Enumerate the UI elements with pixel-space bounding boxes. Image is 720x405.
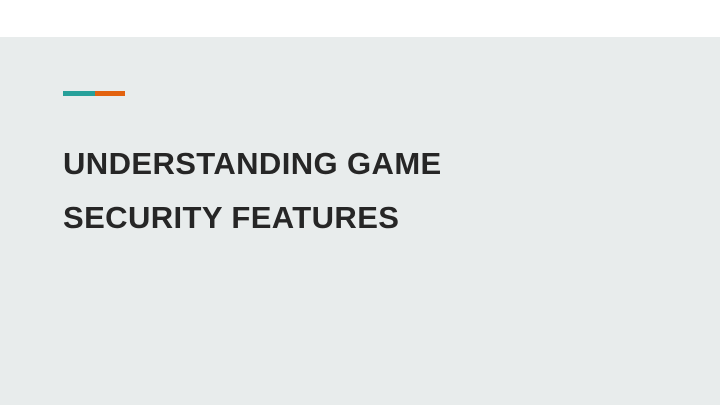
slide-body: UNDERSTANDING GAME SECURITY FEATURES [0,37,720,405]
slide-title: UNDERSTANDING GAME SECURITY FEATURES [63,137,663,245]
accent-rule-orange-segment [95,91,125,96]
slide: UNDERSTANDING GAME SECURITY FEATURES [0,0,720,405]
accent-rule [63,91,125,96]
header-strip [0,0,720,37]
slide-title-line-1: UNDERSTANDING GAME [63,137,663,191]
slide-title-line-2: SECURITY FEATURES [63,191,663,245]
accent-rule-teal-segment [63,91,95,96]
